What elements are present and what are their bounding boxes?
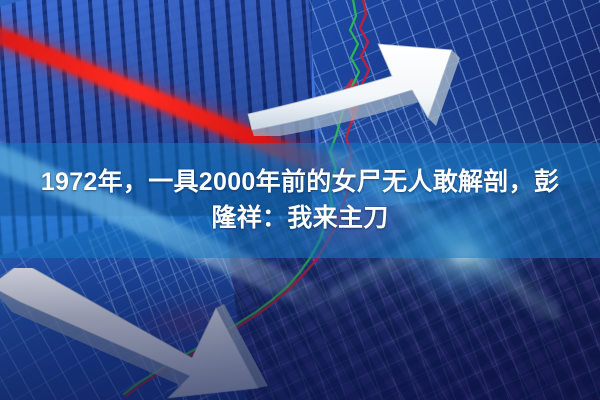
caption-line-2: 隆祥：我来主刀 <box>211 204 388 234</box>
article-thumbnail-image: 1972年，一具2000年前的女尸无人敢解剖，彭 隆祥：我来主刀 <box>0 0 600 400</box>
caption-line-1: 1972年，一具2000年前的女尸无人敢解剖，彭 <box>41 168 559 198</box>
caption-title: 1972年，一具2000年前的女尸无人敢解剖，彭 隆祥：我来主刀 <box>0 143 600 258</box>
arrow-up-right-icon <box>246 18 496 136</box>
